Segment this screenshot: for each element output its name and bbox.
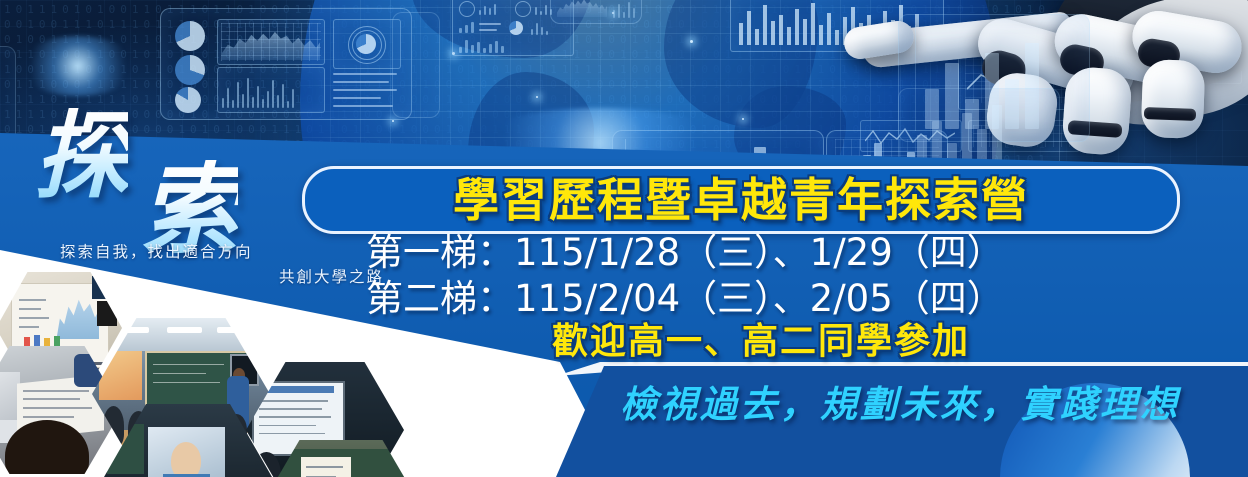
subtitle-line-1: 探索自我，找出適合方向	[60, 244, 253, 261]
robot-finger-segment	[1141, 59, 1206, 139]
event-title-pill: 學習歷程暨卓越青年探索營	[302, 166, 1180, 234]
brand-char-explore-1: 探	[34, 108, 128, 204]
area-chart-frame	[217, 19, 325, 65]
hud-top-panel	[550, 0, 642, 24]
sparkle	[536, 96, 538, 98]
robot-joint	[1144, 107, 1196, 121]
hud-dashboard-panel	[160, 8, 412, 120]
event-banner: 1011101010011011101101000111010100000110…	[0, 0, 1248, 477]
donut-chart-frame	[333, 19, 401, 69]
light-flare	[18, 36, 138, 96]
event-title: 學習歷程暨卓越青年探索營	[453, 177, 1029, 223]
tagline-text: 檢視過去，規劃未來，實踐理想	[590, 382, 1210, 428]
brand-script: 探 索	[34, 108, 354, 248]
donut-chart	[356, 34, 376, 54]
photo-collage	[0, 276, 520, 477]
session-row-1: 第一梯：115/1/28（三）、1/29（四）	[366, 230, 1156, 276]
bar-chart-frame	[217, 67, 325, 113]
sparkle	[690, 40, 693, 43]
sparkle	[392, 120, 394, 122]
hud-side-panel	[392, 12, 440, 118]
pie-chart-icon	[175, 21, 205, 51]
sparkle	[742, 118, 744, 120]
pie-chart-icon	[175, 55, 205, 85]
